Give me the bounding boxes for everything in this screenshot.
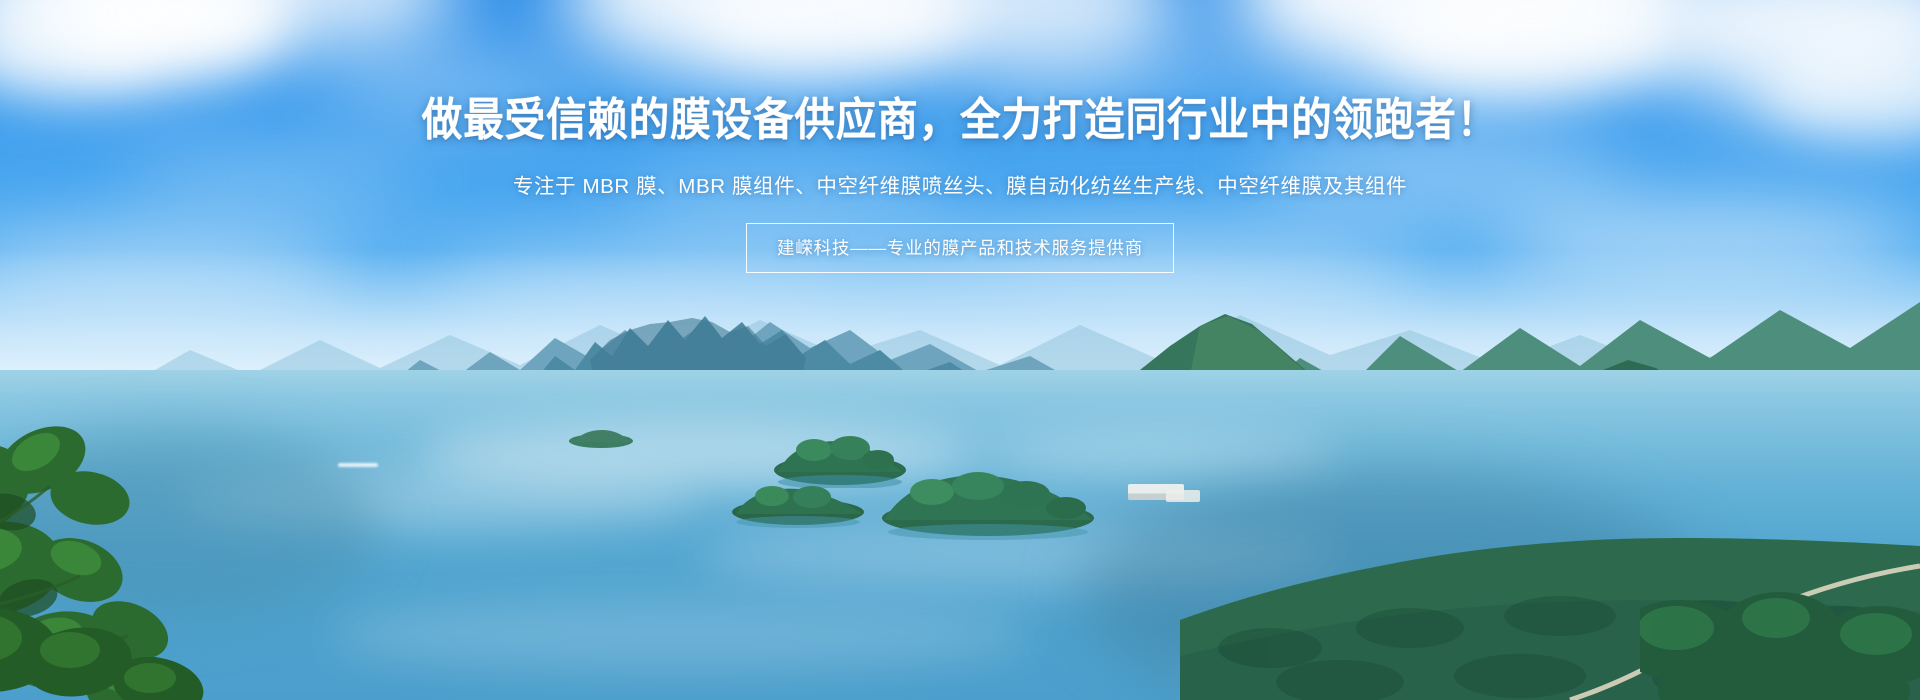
island-far-small: [566, 424, 636, 450]
banner-subline: 专注于 MBR 膜、MBR 膜组件、中空纤维膜喷丝头、膜自动化纺丝生产线、中空纤…: [513, 169, 1407, 199]
water-highlight: [330, 600, 1030, 670]
banner-tagline-box: 建嵘科技——专业的膜产品和技术服务提供商: [746, 223, 1174, 273]
island-right: [870, 452, 1100, 542]
foliage-branch-lower: [0, 600, 220, 700]
building-cluster: [1166, 490, 1200, 502]
banner-copy: 做最受信赖的膜设备供应商，全力打造同行业中的领跑者！ 专注于 MBR 膜、MBR…: [0, 0, 1920, 320]
hero-banner: 做最受信赖的膜设备供应商，全力打造同行业中的领跑者！ 专注于 MBR 膜、MBR…: [0, 0, 1920, 700]
banner-tagline-text: 建嵘科技——专业的膜产品和技术服务提供商: [777, 238, 1143, 258]
banner-headline: 做最受信赖的膜设备供应商，全力打造同行业中的领跑者！: [422, 96, 1498, 143]
island-small-left: [720, 470, 870, 530]
foliage-right-bottom: [1640, 560, 1920, 700]
boat-wake: [338, 463, 378, 467]
